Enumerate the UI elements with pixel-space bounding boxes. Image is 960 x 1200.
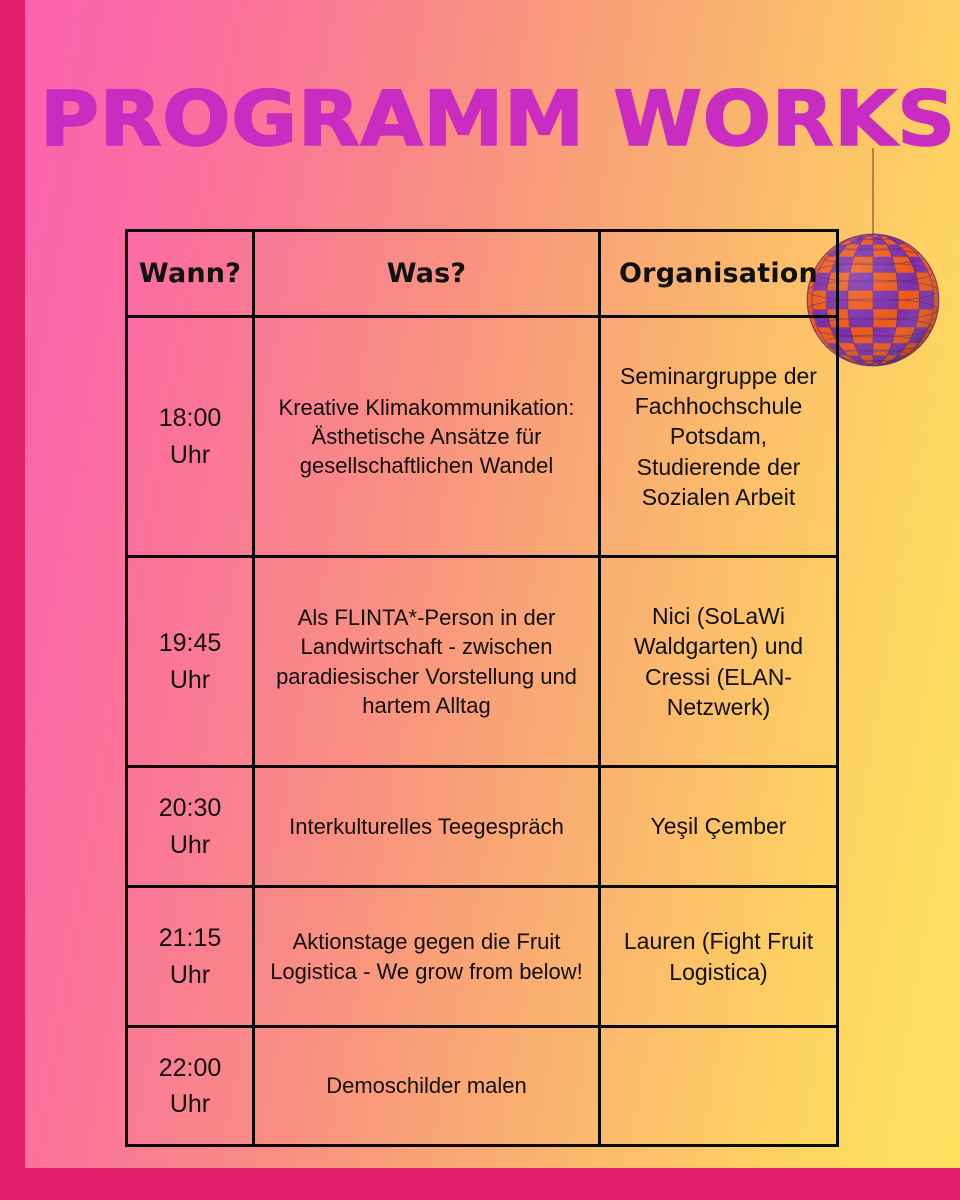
cell-organisation: Lauren (Fight Fruit Logistica) <box>600 887 838 1027</box>
page-title: PROGRAMM WORKSHOPRAUM <box>40 82 960 156</box>
program-table: Wann? Was? Organisation 18:00 Uhr Kreati… <box>125 229 839 1147</box>
cell-organisation <box>600 1027 838 1146</box>
cell-time: 21:15 Uhr <box>127 887 254 1027</box>
cell-time: 19:45 Uhr <box>127 557 254 767</box>
cell-time: 18:00 Uhr <box>127 317 254 557</box>
table-row: 19:45 Uhr Als FLINTA*-Person in der Land… <box>127 557 838 767</box>
table-header-row: Wann? Was? Organisation <box>127 231 838 317</box>
cell-topic: Demoschilder malen <box>254 1027 600 1146</box>
cell-topic: Als FLINTA*-Person in der Landwirtschaft… <box>254 557 600 767</box>
table-row: 21:15 Uhr Aktionstage gegen die Fruit Lo… <box>127 887 838 1027</box>
cell-time: 20:30 Uhr <box>127 767 254 887</box>
column-header-wann: Wann? <box>127 231 254 317</box>
column-header-organisation: Organisation <box>600 231 838 317</box>
table-row: 20:30 Uhr Interkulturelles Teegespräch Y… <box>127 767 838 887</box>
cell-topic: Aktionstage gegen die Fruit Logistica - … <box>254 887 600 1027</box>
table-row: 22:00 Uhr Demoschilder malen <box>127 1027 838 1146</box>
cell-organisation: Seminargruppe der Fachhochschule Potsdam… <box>600 317 838 557</box>
cell-topic: Kreative Klimakommunikation: Ästhetische… <box>254 317 600 557</box>
table-row: 18:00 Uhr Kreative Klimakommunikation: Ä… <box>127 317 838 557</box>
poster-root: PROGRAMM WORKSHOPRAUM <box>0 0 960 1200</box>
cell-topic: Interkulturelles Teegespräch <box>254 767 600 887</box>
cell-organisation: Yeşil Çember <box>600 767 838 887</box>
cell-time: 22:00 Uhr <box>127 1027 254 1146</box>
cell-organisation: Nici (SoLaWi Waldgarten) und Cressi (ELA… <box>600 557 838 767</box>
column-header-was: Was? <box>254 231 600 317</box>
